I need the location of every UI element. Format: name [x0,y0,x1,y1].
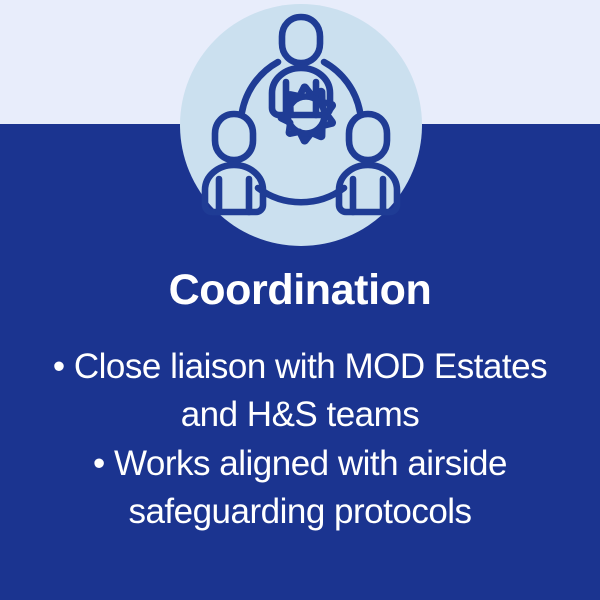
coordination-card: Coordination • Close liaison with MOD Es… [0,0,600,600]
list-item: • Close liaison with MOD Estates and H&S… [22,343,578,438]
page-title: Coordination [0,268,600,313]
arc-bottom [258,188,344,202]
team-coordination-icon [180,4,422,246]
list-item: • Works aligned with airside safeguardin… [22,440,578,535]
icon-medallion [180,4,422,246]
bullet-list: • Close liaison with MOD Estates and H&S… [0,343,600,535]
text-content: Coordination • Close liaison with MOD Es… [0,268,600,536]
person-bottom-left-icon [205,114,263,212]
person-bottom-right-icon [339,114,397,212]
